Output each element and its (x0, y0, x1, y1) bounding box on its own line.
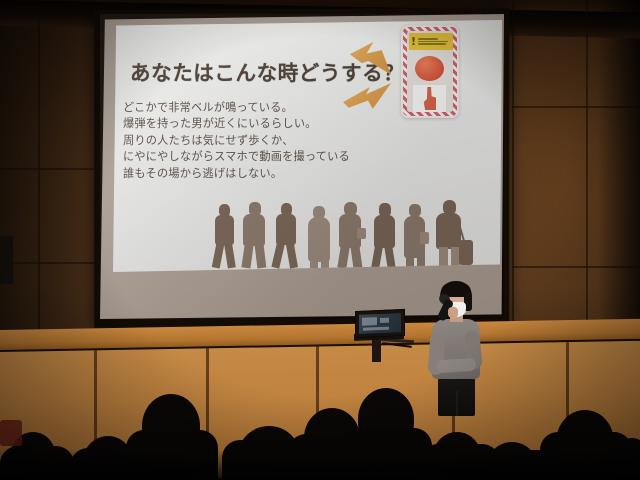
walking-figure (371, 246, 383, 268)
walking-figure (224, 244, 236, 269)
presentation-slide: あなたはこんな時どうする？ どこかで非常ベルが鳴っている。 爆弾を持った男が近く… (113, 20, 502, 272)
walking-figure (215, 215, 234, 245)
walking-figure (286, 243, 298, 268)
walking-figure (384, 247, 395, 269)
slide-body-line: どこかで非常ベルが鳴っている。 (123, 100, 350, 116)
laptop-lid[interactable] (355, 309, 405, 338)
emergency-callbox-graphic: ! (401, 25, 459, 118)
auditorium-photo: あなたはこんな時どうする？ どこかで非常ベルが鳴っている。 爆弾を持った男が近く… (0, 0, 640, 480)
wall-panel-seam (0, 168, 95, 170)
walking-figure (439, 247, 448, 268)
wall-panel-seam (0, 262, 95, 264)
lightning-arrow-icon (343, 82, 391, 110)
pointing-hand-icon (423, 87, 436, 110)
walking-figure (271, 243, 284, 268)
walking-figure (374, 215, 395, 248)
walking-figure (255, 245, 267, 269)
screen-content-block (380, 318, 389, 323)
audience-foreground-shadow (0, 450, 640, 480)
wall-panel-seam (512, 106, 640, 108)
walking-figure (406, 255, 414, 268)
audience-silhouettes (0, 388, 640, 480)
wall-panel-seam (512, 0, 514, 340)
screen-content-block (363, 327, 389, 331)
walking-figure (321, 258, 329, 268)
slide-body-text: どこかで非常ベルが鳴っている。 爆弾を持った男が近くにいるらしい。 周りの人たち… (123, 100, 350, 182)
rolling-suitcase (459, 240, 473, 265)
screen-content-block (362, 317, 377, 326)
wall-speaker (0, 236, 13, 284)
walking-figure (308, 217, 330, 262)
red-object-left (0, 420, 22, 446)
slide-body-line: 爆弾を持った男が近くにいるらしい。 (123, 116, 350, 132)
crowd-silhouette-graphic (213, 200, 483, 268)
warning-text-lines (418, 38, 451, 45)
carried-bag (357, 228, 366, 239)
laptop-screen (359, 313, 401, 334)
walking-figure (310, 258, 318, 268)
walking-figure (241, 244, 253, 268)
emergency-button-icon (415, 56, 444, 81)
carried-bag (420, 232, 429, 244)
wall-panel-seam (512, 266, 640, 268)
walking-figure (243, 214, 265, 246)
slide-body-line: にやにやしながらスマホで動画を撮っている (123, 149, 350, 165)
wall-panel-seam (38, 18, 40, 338)
exclamation-icon: ! (411, 36, 416, 47)
wall-panel-seam (586, 0, 588, 340)
walking-figure (351, 246, 363, 268)
slide-body-line: 周りの人たちは気にせず歩くか、 (123, 133, 350, 149)
presenter-hand (448, 307, 458, 318)
walking-figure (436, 213, 461, 249)
slide-body-line: 誰もその場から逃げはしない。 (123, 166, 350, 182)
presenter-folded-forearm (436, 358, 477, 374)
walking-figure (276, 214, 296, 245)
warning-label: ! (409, 33, 453, 50)
walking-figure (212, 243, 224, 268)
walking-figure (337, 246, 349, 268)
hand-press-plate (413, 85, 446, 112)
